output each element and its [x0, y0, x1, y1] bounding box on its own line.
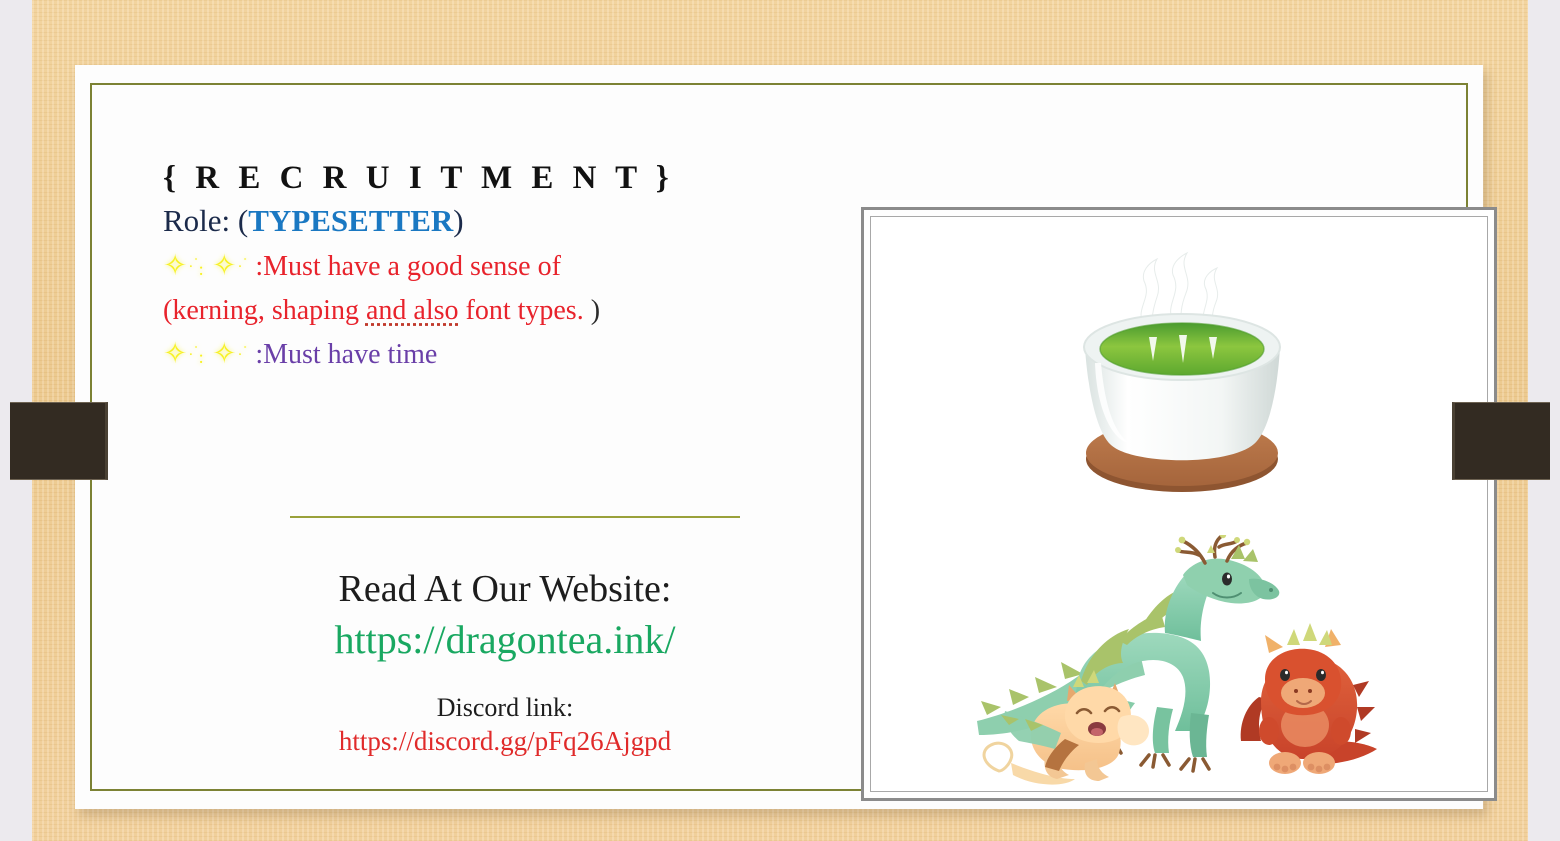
recruitment-heading: { R E C R U I T M E N T } [163, 160, 783, 198]
role-label: Role: ( [163, 203, 248, 238]
kerning-part-underlined: and also [366, 295, 459, 326]
binder-clip-left [10, 402, 108, 480]
requirement-2-separator: : [255, 339, 263, 370]
image-frame-inner [870, 216, 1488, 792]
open-paren: ( [163, 295, 172, 326]
kerning-part-a: kerning, shaping [172, 295, 366, 326]
requirement-line-2: ✧·˚: ✧·˚ :Must have time [163, 332, 783, 377]
requirement-1-text: Must have a good sense of [263, 251, 561, 282]
recruitment-text-block: { R E C R U I T M E N T } Role: (TYPESET… [163, 160, 783, 377]
discord-url-link[interactable]: https://discord.gg/pFq26Ajgpd [185, 724, 825, 759]
three-dragons-illustration [969, 535, 1389, 787]
role-close-paren: ) [453, 203, 463, 238]
sparkle-icon-group-1: ✧·˚: ✧·˚ [163, 252, 255, 281]
read-at-website-label: Read At Our Website: [185, 565, 825, 614]
website-url-link[interactable]: https://dragontea.ink/ [185, 614, 825, 666]
discord-label: Discord link: [185, 692, 825, 725]
kerning-part-c: font types. [459, 295, 591, 326]
slide-stage: { R E C R U I T M E N T } Role: (TYPESET… [0, 0, 1560, 841]
links-block: Read At Our Website: https://dragontea.i… [185, 565, 825, 759]
sparkle-icon-group-2: ✧·˚: ✧·˚ [163, 340, 255, 369]
close-paren: ) [591, 295, 600, 326]
binder-clip-right [1452, 402, 1550, 480]
image-frame [861, 207, 1497, 801]
horizontal-divider [290, 516, 740, 518]
requirement-1-continuation: (kerning, shaping and also font types. ) [163, 290, 783, 332]
requirement-1-separator: : [255, 251, 263, 282]
presentation-slide: { R E C R U I T M E N T } Role: (TYPESET… [75, 65, 1483, 809]
requirement-line-1: ✧·˚: ✧·˚ :Must have a good sense of [163, 244, 783, 289]
role-line: Role: (TYPESETTER) [163, 198, 783, 245]
matcha-tea-bowl-icon [1049, 229, 1309, 499]
role-value: TYPESETTER [248, 203, 453, 238]
requirement-2-text: Must have time [263, 339, 437, 370]
